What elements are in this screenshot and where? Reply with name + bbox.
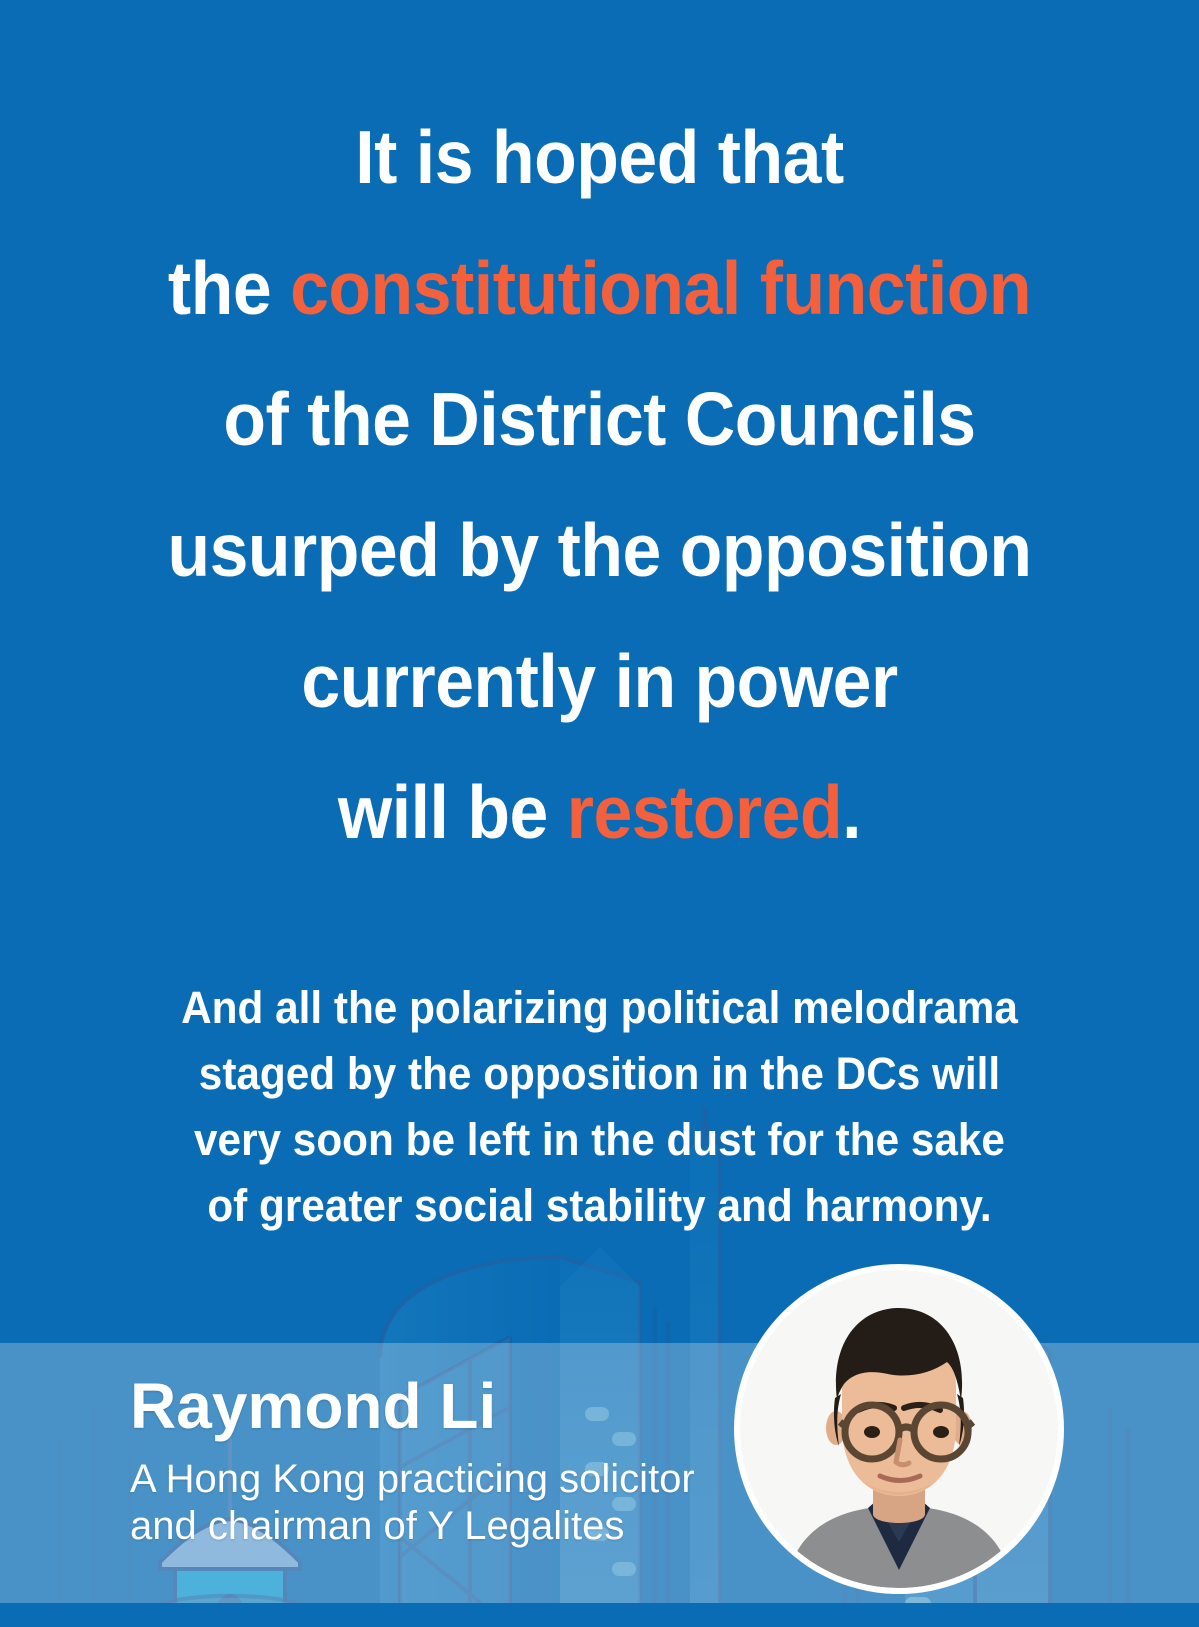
author-name: Raymond Li: [130, 1370, 496, 1442]
quote-text: It is hoped that the constitutional func…: [42, 92, 1157, 878]
water-band: [0, 1603, 1199, 1627]
quote-line-3: of the District Councils: [42, 354, 1157, 485]
author-role: A Hong Kong practicing solicitor and cha…: [130, 1456, 695, 1550]
avatar: [740, 1270, 1058, 1588]
quote-line-2-plain: the: [168, 246, 290, 330]
paragraph-line-4: of greater social stability and harmony.: [36, 1173, 1163, 1239]
quote-line-6-period: .: [842, 770, 861, 854]
avatar-portrait: [740, 1270, 1058, 1588]
quote-line-5-text: currently in power: [301, 639, 897, 723]
paragraph-line-2: staged by the opposition in the DCs will: [36, 1041, 1163, 1107]
quote-line-1: It is hoped that: [42, 92, 1157, 223]
quote-line-2-accent: constitutional function: [290, 246, 1031, 330]
quote-line-6: will be restored.: [42, 747, 1157, 878]
paragraph-line-3: very soon be left in the dust for the sa…: [36, 1107, 1163, 1173]
quote-line-1-text: It is hoped that: [355, 115, 844, 199]
quote-line-2: the constitutional function: [42, 223, 1157, 354]
author-role-line-2: and chairman of Y Legalites: [130, 1503, 695, 1550]
quote-line-6-plain: will be: [338, 770, 567, 854]
paragraph-line-1: And all the polarizing political melodra…: [36, 975, 1163, 1041]
quote-line-4: usurped by the opposition: [42, 485, 1157, 616]
quote-line-4-text: usurped by the opposition: [167, 508, 1031, 592]
quote-line-3-text: of the District Councils: [223, 377, 975, 461]
author-role-line-1: A Hong Kong practicing solicitor: [130, 1456, 695, 1503]
secondary-paragraph: And all the polarizing political melodra…: [36, 975, 1163, 1239]
quote-line-5: currently in power: [42, 616, 1157, 747]
quote-line-6-accent: restored: [567, 770, 842, 854]
quote-card: It is hoped that the constitutional func…: [0, 0, 1199, 1627]
